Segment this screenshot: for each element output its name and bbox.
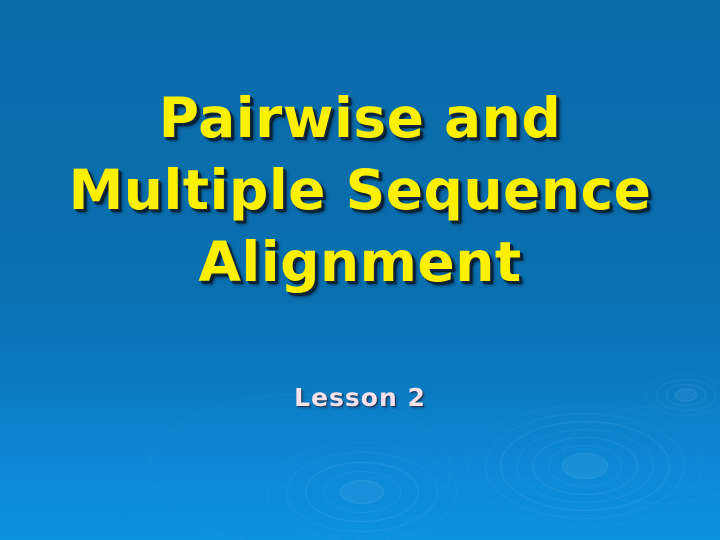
title-line-3: Alignment xyxy=(0,226,720,298)
title-line-2: Multiple Sequence xyxy=(0,154,720,226)
subtitle-container: Lesson 2 xyxy=(0,383,720,412)
ripple-large-ring-4 xyxy=(516,429,654,503)
ripple-medium-ring-2 xyxy=(323,471,401,513)
ripple-outer-arc-right xyxy=(564,406,720,504)
ripple-medium-ring-3 xyxy=(305,462,419,522)
ripple-large-ring-3 xyxy=(532,437,638,495)
ripple-medium-ring-1 xyxy=(340,480,384,504)
ripple-medium-ring-5 xyxy=(267,442,457,540)
ripple-medium-ring-4 xyxy=(286,452,438,532)
title-line-1: Pairwise and xyxy=(0,82,720,154)
ripple-large-ring-5 xyxy=(500,421,670,511)
ripple-large-ring-7 xyxy=(468,405,702,527)
ripple-large-ring-2 xyxy=(548,445,622,487)
ripple-outer-arc-left xyxy=(149,394,451,540)
ripple-large-ring-1 xyxy=(562,453,608,479)
page-title: Pairwise and Multiple Sequence Alignment xyxy=(0,82,720,298)
slide-subtitle: Lesson 2 xyxy=(0,383,720,412)
presentation-slide: Pairwise and Multiple Sequence Alignment… xyxy=(0,0,720,540)
ripple-large-ring-6 xyxy=(485,413,685,519)
